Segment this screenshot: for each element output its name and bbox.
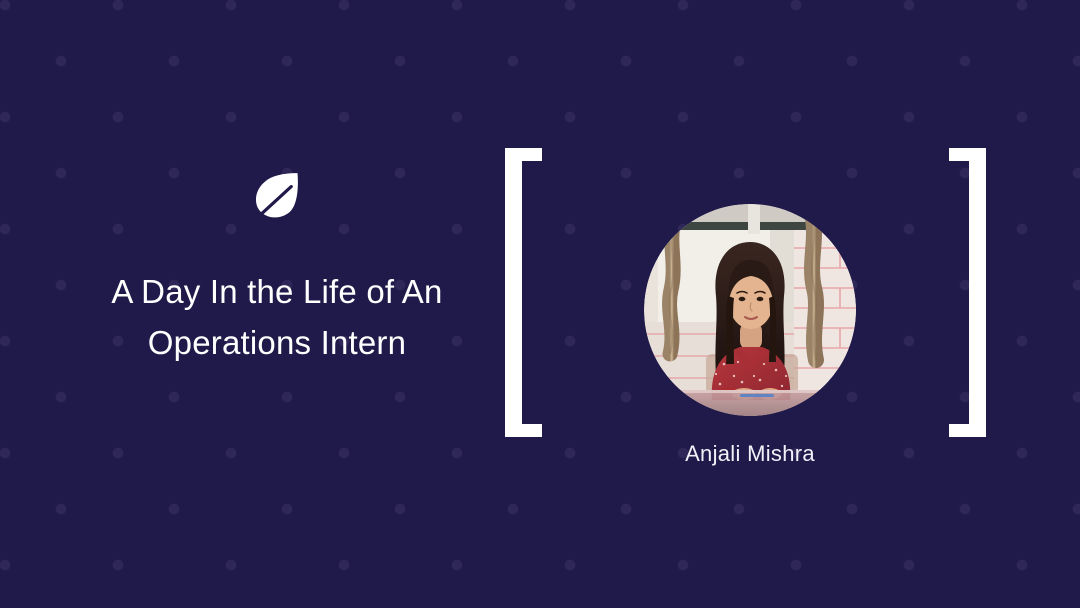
left-bracket-icon — [505, 148, 542, 437]
leaf-icon — [250, 171, 306, 223]
page-title: A Day In the Life of An Operations Inter… — [42, 266, 512, 368]
presenter-name: Anjali Mishra — [600, 441, 900, 467]
avatar — [644, 204, 856, 416]
right-bracket-icon — [949, 148, 986, 437]
title-slide: A Day In the Life of An Operations Inter… — [0, 0, 1080, 608]
